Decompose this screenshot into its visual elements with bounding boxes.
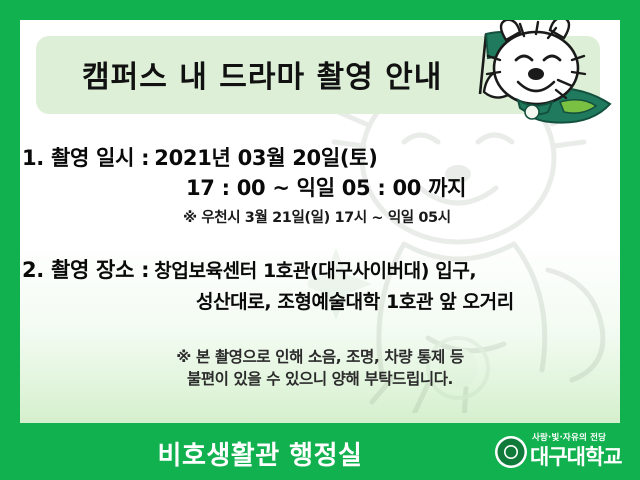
item-2-label: 2. 촬영 장소 :: [22, 258, 149, 282]
item-2-value-line2: 성산대로, 조형예술대학 1호관 앞 오거리: [196, 287, 514, 314]
page-title: 캠퍼스 내 드라마 촬영 안내: [82, 52, 442, 96]
item-2-value-line1: 창업보육센터 1호관(대구사이버대) 입구,: [154, 260, 476, 282]
item-1-line: 1. 촬영 일시 : 2021년 03월 20일(토): [22, 142, 378, 172]
daegu-university-emblem-icon: [494, 435, 528, 469]
item-1-value-line2: 17 : 00 ~ 익일 05 : 00 까지: [186, 172, 466, 202]
bottom-note: ※ 본 촬영으로 인해 소음, 조명, 차량 통제 등 불편이 있을 수 있으니…: [20, 346, 620, 390]
footer-bar: 비호생활관 행정실 사랑·빛·자유의 전당 대구대학교: [0, 423, 640, 480]
poster-canvas: 캠퍼스 내 드라마 촬영 안내: [0, 0, 640, 480]
item-1-sub-note: ※ 우천시 3월 21일(일) 17시 ~ 익일 05시: [183, 206, 451, 227]
poster-body-panel: 캠퍼스 내 드라마 촬영 안내: [20, 20, 620, 423]
item-1-value-line1: 2021년 03월 20일(토): [154, 146, 377, 170]
logo-university-name: 대구대학교: [530, 441, 622, 471]
bottom-note-line-1: ※ 본 촬영으로 인해 소음, 조명, 차량 통제 등: [20, 346, 620, 368]
item-1-label: 1. 촬영 일시 :: [22, 146, 149, 170]
item-2-line: 2. 촬영 장소 : 창업보육센터 1호관(대구사이버대) 입구,: [22, 254, 476, 284]
tiger-mascot-with-flag-icon: [440, 20, 620, 136]
university-logo: 사랑·빛·자유의 전당 대구대학교: [494, 431, 634, 473]
bottom-note-line-2: 불편이 있을 수 있으니 양해 부탁드립니다.: [20, 368, 620, 390]
